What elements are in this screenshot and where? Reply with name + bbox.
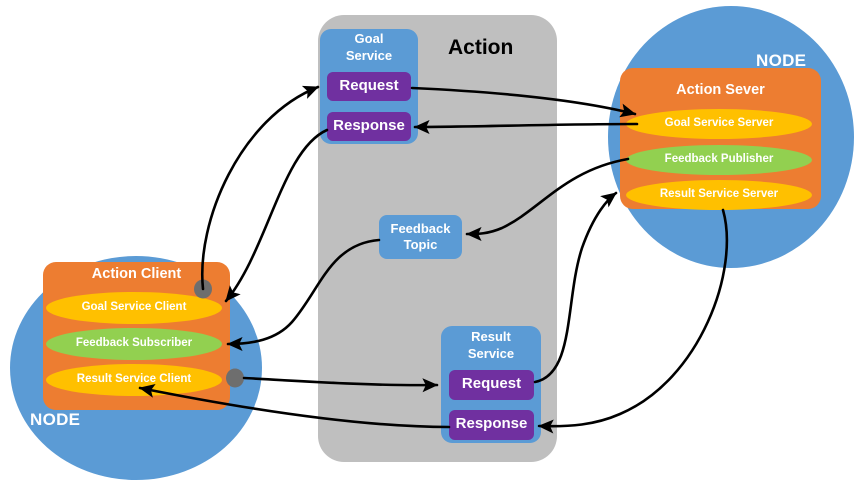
diagram-vector-layer <box>0 0 854 480</box>
result-response-box <box>449 410 534 440</box>
pill-goal-service-server <box>626 109 812 139</box>
feedback-topic-box <box>379 215 462 259</box>
result-client-connection-dot <box>226 369 244 388</box>
pill-feedback-publisher <box>626 145 812 175</box>
goal-request-box <box>327 72 411 101</box>
pill-result-service-server <box>626 180 812 210</box>
pill-result-service-client <box>46 364 222 396</box>
result-request-box <box>449 370 534 400</box>
arrow-goal-response-to-goal-client <box>226 130 327 301</box>
pill-goal-service-client <box>46 292 222 324</box>
pill-feedback-subscriber <box>46 328 222 360</box>
action-panel-label: Action <box>448 36 568 60</box>
goal-response-box <box>327 112 411 141</box>
arrow-goal-client-to-goal-request <box>202 87 318 289</box>
diagram-canvas: Action Goal Service Request Response Fee… <box>0 0 854 480</box>
